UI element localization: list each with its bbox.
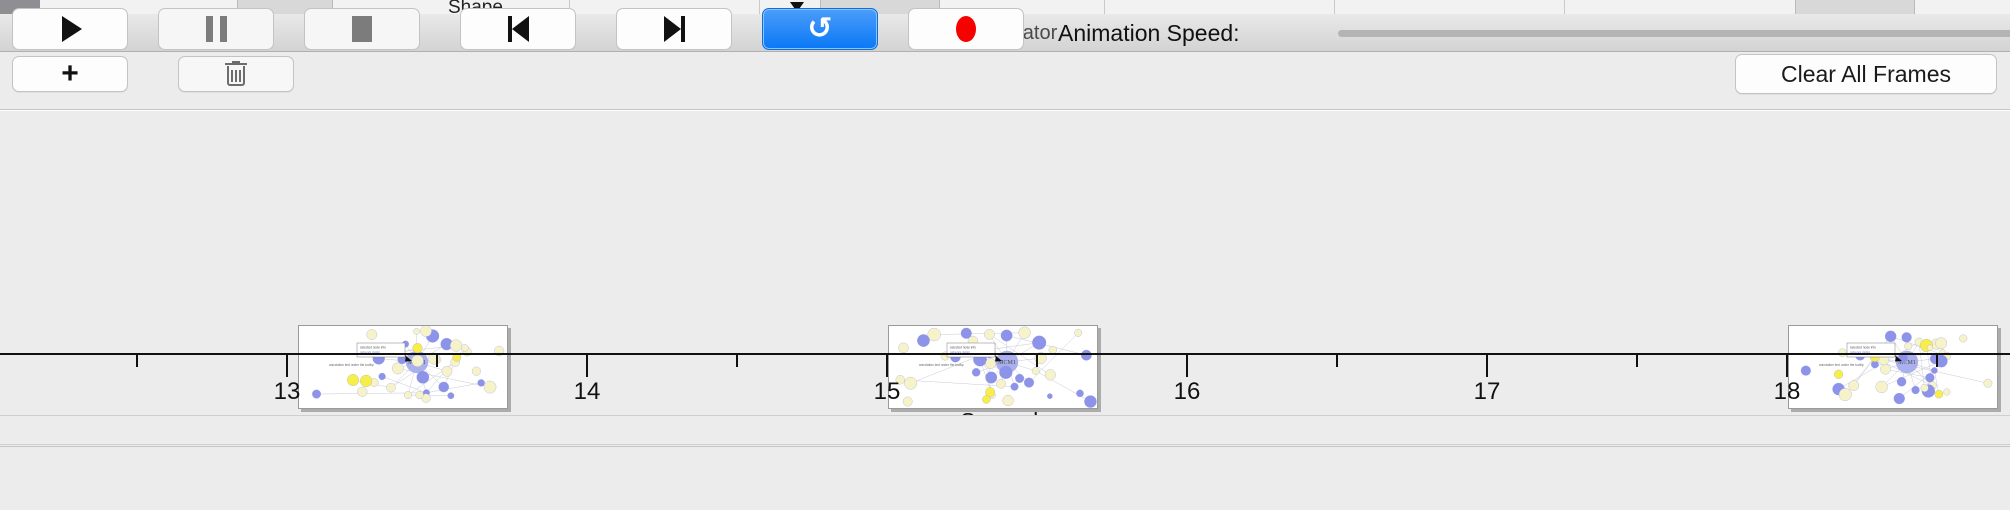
prev-frame-button[interactable] [460,8,576,50]
add-frame-button[interactable]: + [12,56,128,92]
frame-thumbnail[interactable]: MCM1selected node infonetwork detailanno… [888,325,1098,409]
timeline-axis-label: Seconds [0,408,2010,415]
record-button[interactable] [908,8,1024,50]
timeline-top-divider [0,110,2010,111]
svg-text:selected node info: selected node info [360,346,386,350]
ruler-major-tick [1186,355,1188,377]
svg-text:selected node info: selected node info [1850,346,1876,350]
delete-frame-button[interactable] [178,56,294,92]
ruler-tick-label: 13 [274,378,301,406]
play-icon [62,16,82,42]
ruler-minor-tick [436,355,438,367]
skip-back-icon [508,16,529,42]
skip-forward-icon [664,16,685,42]
clear-all-frames-button[interactable]: Clear All Frames [1735,54,1997,94]
svg-text:annotation text under the tool: annotation text under the tooltip [1819,363,1864,367]
ruler-minor-tick [1936,355,1938,367]
loop-button[interactable]: ↺ [762,8,878,50]
clear-all-frames-label: Clear All Frames [1781,61,1951,88]
next-frame-button[interactable] [616,8,732,50]
ruler-tick-label: 15 [874,378,901,406]
ruler-major-tick [586,355,588,377]
timeline-ruler-baseline [0,353,2010,355]
pause-icon [206,16,227,42]
play-button[interactable] [12,8,128,50]
timeline-panel[interactable]: MCM1selected node infonetwork detailanno… [0,110,2010,415]
background-toolbar-cell-6 [1105,0,1335,14]
animation-speed-slider-track[interactable] [1338,30,2010,37]
record-icon [956,16,976,42]
background-toolbar-cell-7 [1335,0,1565,14]
timeline-scrollbar-track[interactable] [0,415,2010,445]
toolbar [0,52,2010,110]
trash-icon [225,61,247,87]
frame-thumbnail[interactable]: MCM1selected node infonetwork detailanno… [1788,325,1998,409]
frame-thumbnail[interactable]: MCM1selected node infonetwork detailanno… [298,325,508,409]
svg-text:annotation text under the tool: annotation text under the tooltip [329,363,374,367]
ruler-minor-tick [1636,355,1638,367]
stop-icon [352,16,372,42]
svg-text:MCM1: MCM1 [998,360,1016,366]
ruler-major-tick [1786,355,1788,377]
ruler-minor-tick [1336,355,1338,367]
background-toolbar-cell-8 [1795,0,1915,14]
animation-speed-label: Animation Speed: [1058,20,1240,47]
ruler-tick-label: 16 [1174,378,1201,406]
ruler-major-tick [886,355,888,377]
ruler-tick-label: 17 [1474,378,1501,406]
ruler-tick-label: 14 [574,378,601,406]
svg-text:annotation text under the tool: annotation text under the tooltip [919,363,964,367]
plus-icon: + [61,59,79,89]
playback-bar [0,446,2010,510]
ruler-minor-tick [1036,355,1038,367]
pause-button[interactable] [158,8,274,50]
ruler-minor-tick [736,355,738,367]
stop-button[interactable] [304,8,420,50]
ruler-major-tick [1486,355,1488,377]
ruler-minor-tick [136,355,138,367]
svg-text:selected node info: selected node info [950,346,976,350]
cyanimator-window: Shape CyAnimator + Clear All Frames MCM1… [0,0,2010,510]
ruler-tick-label: 18 [1774,378,1801,406]
loop-icon: ↺ [807,14,832,44]
ruler-major-tick [286,355,288,377]
